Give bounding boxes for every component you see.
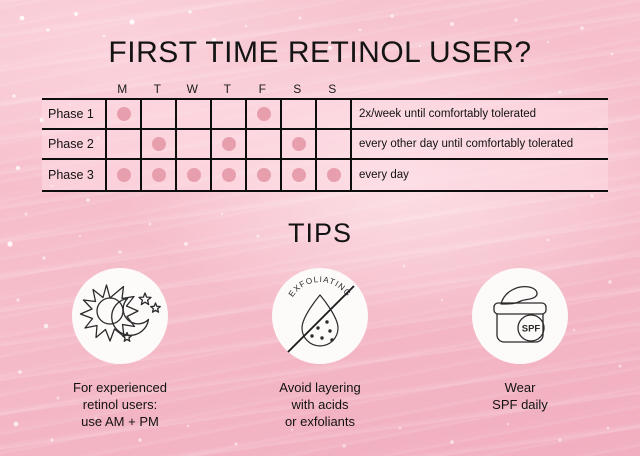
tip-caption-line: Avoid layering [279, 379, 360, 396]
tip-wear-spf: SPF Wear SPF daily [430, 268, 610, 430]
tip-caption-line: Wear [492, 379, 548, 396]
dot-marker [327, 168, 341, 182]
day-cell-wed[interactable] [175, 160, 210, 190]
day-header-mon: M [105, 82, 140, 98]
dot-marker [117, 168, 131, 182]
day-cell-wed[interactable] [175, 130, 210, 158]
icon-circle: EXFOLIATING [272, 268, 368, 364]
dot-marker [152, 168, 166, 182]
day-cell-thu[interactable] [210, 130, 245, 158]
day-header-wed: W [175, 82, 210, 98]
tips-heading: TIPS [0, 218, 640, 249]
icon-circle: SPF [472, 268, 568, 364]
dot-marker [257, 107, 271, 121]
day-cell-sat[interactable] [280, 100, 315, 128]
day-cell-tue[interactable] [140, 130, 175, 158]
dot-marker [292, 168, 306, 182]
tip-caption: For experienced retinol users: use AM + … [73, 379, 167, 430]
day-cell-mon[interactable] [105, 130, 140, 158]
dot-marker [152, 107, 166, 121]
spf-label: SPF [522, 324, 541, 335]
dot-marker [117, 137, 131, 151]
day-cell-fri[interactable] [245, 100, 280, 128]
sun-moon-stars-icon [77, 273, 163, 359]
day-cell-sat[interactable] [280, 130, 315, 158]
day-header-row: M T W T F S S [42, 82, 608, 98]
tip-caption-line: retinol users: [73, 396, 167, 413]
dot-marker [257, 137, 271, 151]
day-cell-thu[interactable] [210, 100, 245, 128]
tip-caption: Wear SPF daily [492, 379, 548, 413]
day-header-sun: S [315, 82, 350, 98]
tip-avoid-acids: EXFOLIATING Avoid layering with acids or… [230, 268, 410, 430]
retinol-schedule: M T W T F S S Phase 1 2x/week until comf… [42, 82, 608, 192]
day-cell-fri[interactable] [245, 130, 280, 158]
dot-marker [152, 137, 166, 151]
day-header-sat: S [280, 82, 315, 98]
dot-marker [187, 107, 201, 121]
dot-marker [187, 168, 201, 182]
day-cell-mon[interactable] [105, 160, 140, 190]
phase-label: Phase 2 [42, 130, 105, 158]
phase-description: 2x/week until comfortably tolerated [350, 100, 608, 128]
day-cell-thu[interactable] [210, 160, 245, 190]
tip-caption-line: with acids [279, 396, 360, 413]
day-cell-wed[interactable] [175, 100, 210, 128]
dot-marker [222, 168, 236, 182]
dot-marker [222, 137, 236, 151]
icon-circle [72, 268, 168, 364]
day-cell-tue[interactable] [140, 160, 175, 190]
table-row: Phase 1 2x/week until comfortably tolera… [42, 100, 608, 130]
tip-am-pm: For experienced retinol users: use AM + … [30, 268, 210, 430]
phase-description: every other day until comfortably tolera… [350, 130, 608, 158]
dot-marker [187, 137, 201, 151]
tip-caption-line: or exfoliants [279, 413, 360, 430]
tip-caption: Avoid layering with acids or exfoliants [279, 379, 360, 430]
no-exfoliating-droplet-icon: EXFOLIATING [274, 270, 366, 362]
day-cell-fri[interactable] [245, 160, 280, 190]
dot-marker [117, 107, 131, 121]
table-row: Phase 2 every other day until comfortabl… [42, 130, 608, 160]
day-cell-sun[interactable] [315, 100, 350, 128]
dot-marker [222, 107, 236, 121]
day-cell-sun[interactable] [315, 130, 350, 158]
tip-caption-line: use AM + PM [73, 413, 167, 430]
tip-caption-line: For experienced [73, 379, 167, 396]
phase-label: Phase 3 [42, 160, 105, 190]
dot-marker [327, 107, 341, 121]
day-header-fri: F [245, 82, 280, 98]
dot-marker [292, 137, 306, 151]
phase-description: every day [350, 160, 608, 190]
day-header-thu: T [210, 82, 245, 98]
phase-label: Phase 1 [42, 100, 105, 128]
day-cell-mon[interactable] [105, 100, 140, 128]
tip-caption-line: SPF daily [492, 396, 548, 413]
day-header-tue: T [140, 82, 175, 98]
dot-marker [292, 107, 306, 121]
day-cell-tue[interactable] [140, 100, 175, 128]
dot-marker [327, 137, 341, 151]
spf-cream-jar-icon: SPF [477, 273, 563, 359]
page-title: FIRST TIME RETINOL USER? [0, 36, 640, 70]
day-cell-sat[interactable] [280, 160, 315, 190]
table-row: Phase 3 every day [42, 160, 608, 190]
dot-marker [257, 168, 271, 182]
schedule-table: Phase 1 2x/week until comfortably tolera… [42, 98, 608, 192]
day-cell-sun[interactable] [315, 160, 350, 190]
tips-row: For experienced retinol users: use AM + … [30, 268, 610, 430]
